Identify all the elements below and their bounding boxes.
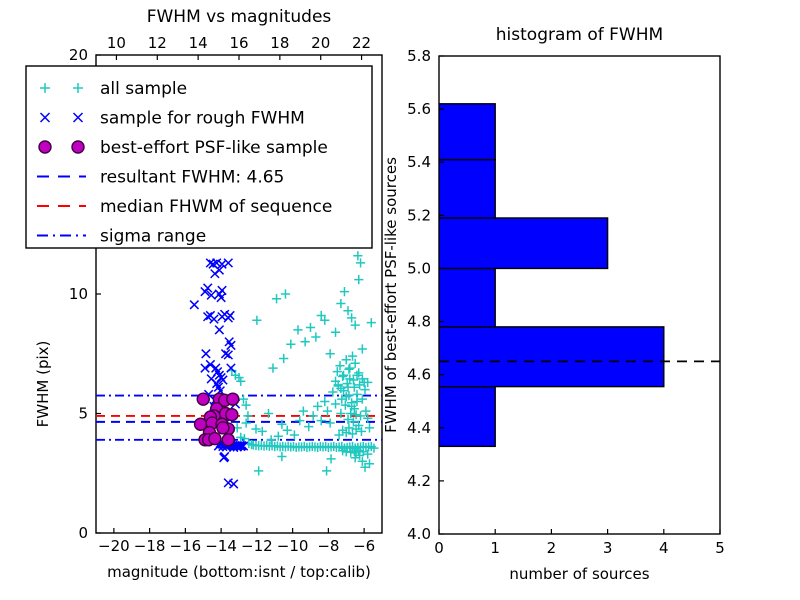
hist-ytick-label: 5.0	[407, 259, 431, 277]
legend-item-label: resultant FWHM: 4.65	[100, 168, 284, 188]
left-plot-title: FWHM vs magnitudes	[147, 7, 332, 27]
psf-sample-marker	[222, 434, 234, 446]
hist-xtick-label: 5	[715, 539, 725, 557]
hist-xtick-label: 4	[659, 539, 669, 557]
ytick-label: 5	[78, 405, 88, 423]
xtick-label-top: 10	[107, 34, 126, 52]
legend-item-label: median FHWM of sequence	[100, 197, 332, 217]
psf-sample-marker	[227, 393, 239, 405]
histogram-bar	[439, 160, 495, 218]
xtick-label-bottom: −20	[98, 537, 130, 555]
xtick-label-bottom: −10	[277, 537, 309, 555]
xtick-label-top: 12	[148, 34, 167, 52]
hist-ytick-label: 4.0	[407, 525, 431, 543]
ytick-label: 20	[69, 46, 88, 64]
hist-ytick-label: 4.4	[407, 419, 431, 437]
psf-sample-marker	[217, 422, 229, 434]
legend-item-label: all sample	[100, 79, 187, 99]
right-yaxis-label: FWHM of best-effort PSF-like sources	[382, 157, 400, 433]
figure-canvas: −20−18−16−14−12−10−8−6101214161820220510…	[0, 0, 800, 600]
circle-icon	[39, 141, 51, 153]
xtick-label-bottom: −16	[170, 537, 202, 555]
hist-xtick-label: 2	[547, 539, 557, 557]
legend-item-label: best-effort PSF-like sample	[100, 138, 328, 158]
left-yaxis-label: FWHM (pix)	[34, 341, 52, 428]
legend-item-label: sigma range	[100, 227, 206, 247]
xtick-label-top: 18	[270, 34, 289, 52]
histogram-bar	[439, 327, 664, 387]
hist-ytick-label: 4.8	[407, 313, 431, 331]
xtick-label-top: 22	[352, 34, 371, 52]
histogram-bar	[439, 104, 495, 160]
xtick-label-top: 16	[229, 34, 248, 52]
hist-ytick-label: 5.2	[407, 206, 431, 224]
legend-item-label: sample for rough FWHM	[100, 109, 305, 129]
series-psf-sample	[195, 393, 239, 446]
right-plot-panel: 0123454.04.24.44.64.85.05.25.45.65.8hist…	[382, 25, 725, 583]
hist-ytick-label: 5.8	[407, 47, 431, 65]
xtick-label-top: 14	[189, 34, 208, 52]
psf-sample-marker	[197, 393, 209, 405]
xtick-label-bottom: −8	[317, 537, 339, 555]
xtick-label-bottom: −12	[241, 537, 273, 555]
psf-sample-marker	[226, 409, 238, 421]
hist-ytick-label: 5.6	[407, 100, 431, 118]
xtick-label-bottom: −18	[134, 537, 166, 555]
ytick-label: 0	[78, 524, 88, 542]
histogram-bar	[439, 268, 495, 326]
right-xaxis-label: number of sources	[509, 565, 649, 583]
matplotlib-figure: −20−18−16−14−12−10−8−6101214161820220510…	[0, 0, 800, 600]
xtick-label-top: 20	[311, 34, 330, 52]
legend: all samplesample for rough FWHMbest-effo…	[26, 66, 372, 248]
xtick-label-bottom: −14	[205, 537, 237, 555]
circle-icon	[72, 141, 84, 153]
hist-xtick-label: 3	[603, 539, 613, 557]
psf-sample-marker	[209, 433, 221, 445]
histogram-bar	[439, 387, 495, 447]
xtick-label-bottom: −6	[353, 537, 375, 555]
hist-ytick-label: 4.2	[407, 472, 431, 490]
left-xaxis-label: magnitude (bottom:isnt / top:calib)	[107, 563, 371, 581]
hist-ytick-label: 5.4	[407, 153, 431, 171]
histogram-bar	[439, 218, 608, 268]
hist-xtick-label: 0	[434, 539, 444, 557]
ytick-label: 10	[69, 285, 88, 303]
right-plot-title: histogram of FWHM	[496, 25, 663, 45]
hist-ytick-label: 4.6	[407, 366, 431, 384]
hist-xtick-label: 1	[490, 539, 500, 557]
